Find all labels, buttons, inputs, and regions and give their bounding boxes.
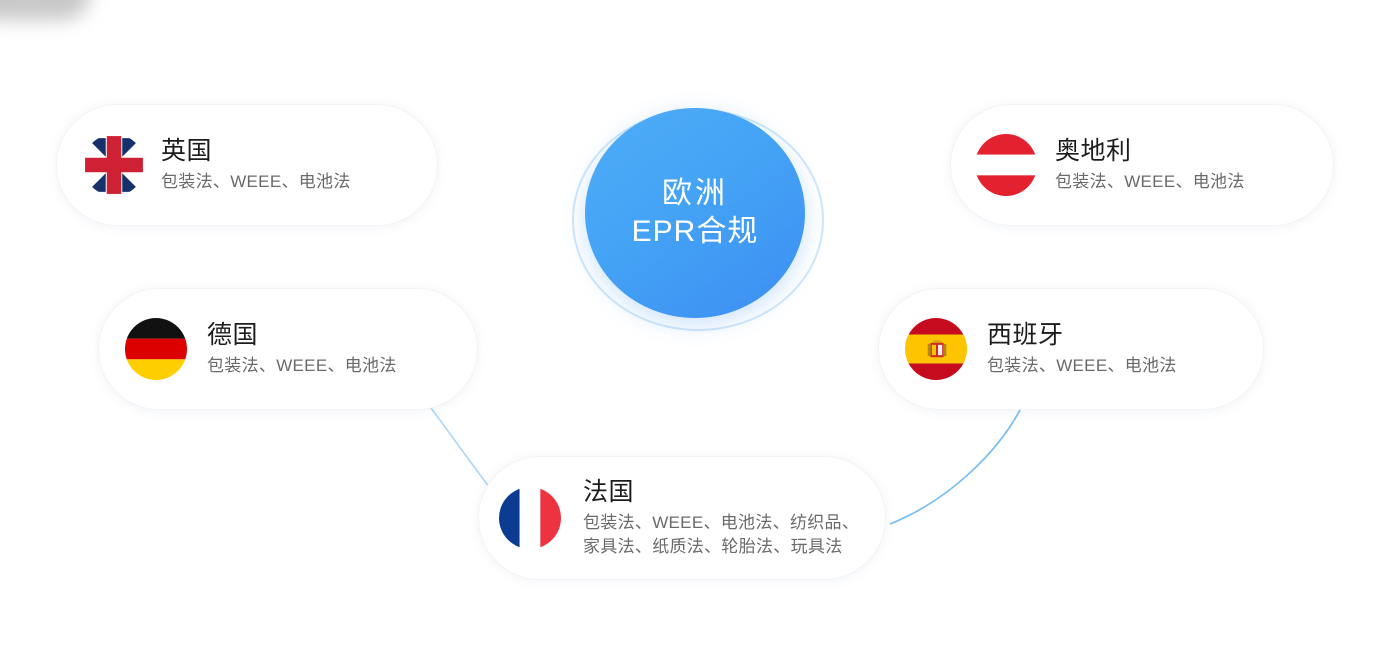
card-text-austria: 奥地利 包装法、WEEE、电池法 (1055, 136, 1245, 194)
card-text-germany: 德国 包装法、WEEE、电池法 (207, 320, 397, 378)
country-desc-germany: 包装法、WEEE、电池法 (207, 354, 397, 378)
country-card-france[interactable]: 法国 包装法、WEEE、电池法、纺织品、 家具法、纸质法、轮胎法、玩具法 (478, 456, 886, 580)
country-name-germany: 德国 (207, 320, 397, 351)
country-name-spain: 西班牙 (987, 320, 1177, 351)
country-card-uk[interactable]: 英国 包装法、WEEE、电池法 (56, 104, 438, 226)
card-text-uk: 英国 包装法、WEEE、电池法 (161, 136, 351, 194)
flag-spain-icon (905, 318, 967, 380)
flag-uk-icon (83, 134, 145, 196)
epr-compliance-diagram: 欧洲 EPR合规 英国 包装法、WEEE、电池法 (0, 0, 1377, 670)
country-card-germany[interactable]: 德国 包装法、WEEE、电池法 (98, 288, 478, 410)
hub-circle: 欧洲 EPR合规 (585, 108, 805, 318)
country-name-uk: 英国 (161, 136, 351, 167)
country-name-france: 法国 (583, 477, 859, 508)
country-desc-uk: 包装法、WEEE、电池法 (161, 170, 351, 194)
flag-austria-icon (975, 134, 1037, 196)
country-desc-austria: 包装法、WEEE、电池法 (1055, 170, 1245, 194)
country-card-austria[interactable]: 奥地利 包装法、WEEE、电池法 (950, 104, 1334, 226)
card-text-spain: 西班牙 包装法、WEEE、电池法 (987, 320, 1177, 378)
country-desc-france: 包装法、WEEE、电池法、纺织品、 家具法、纸质法、轮胎法、玩具法 (583, 511, 859, 559)
card-text-france: 法国 包装法、WEEE、电池法、纺织品、 家具法、纸质法、轮胎法、玩具法 (583, 477, 859, 559)
country-card-spain[interactable]: 西班牙 包装法、WEEE、电池法 (878, 288, 1264, 410)
country-desc-spain: 包装法、WEEE、电池法 (987, 354, 1177, 378)
country-name-austria: 奥地利 (1055, 136, 1245, 167)
hub-title-line1: 欧洲 (662, 175, 728, 213)
hub-title-line2: EPR合规 (632, 213, 759, 251)
flag-germany-icon (125, 318, 187, 380)
center-hub: 欧洲 EPR合规 (566, 97, 836, 337)
flag-france-icon (499, 487, 561, 549)
